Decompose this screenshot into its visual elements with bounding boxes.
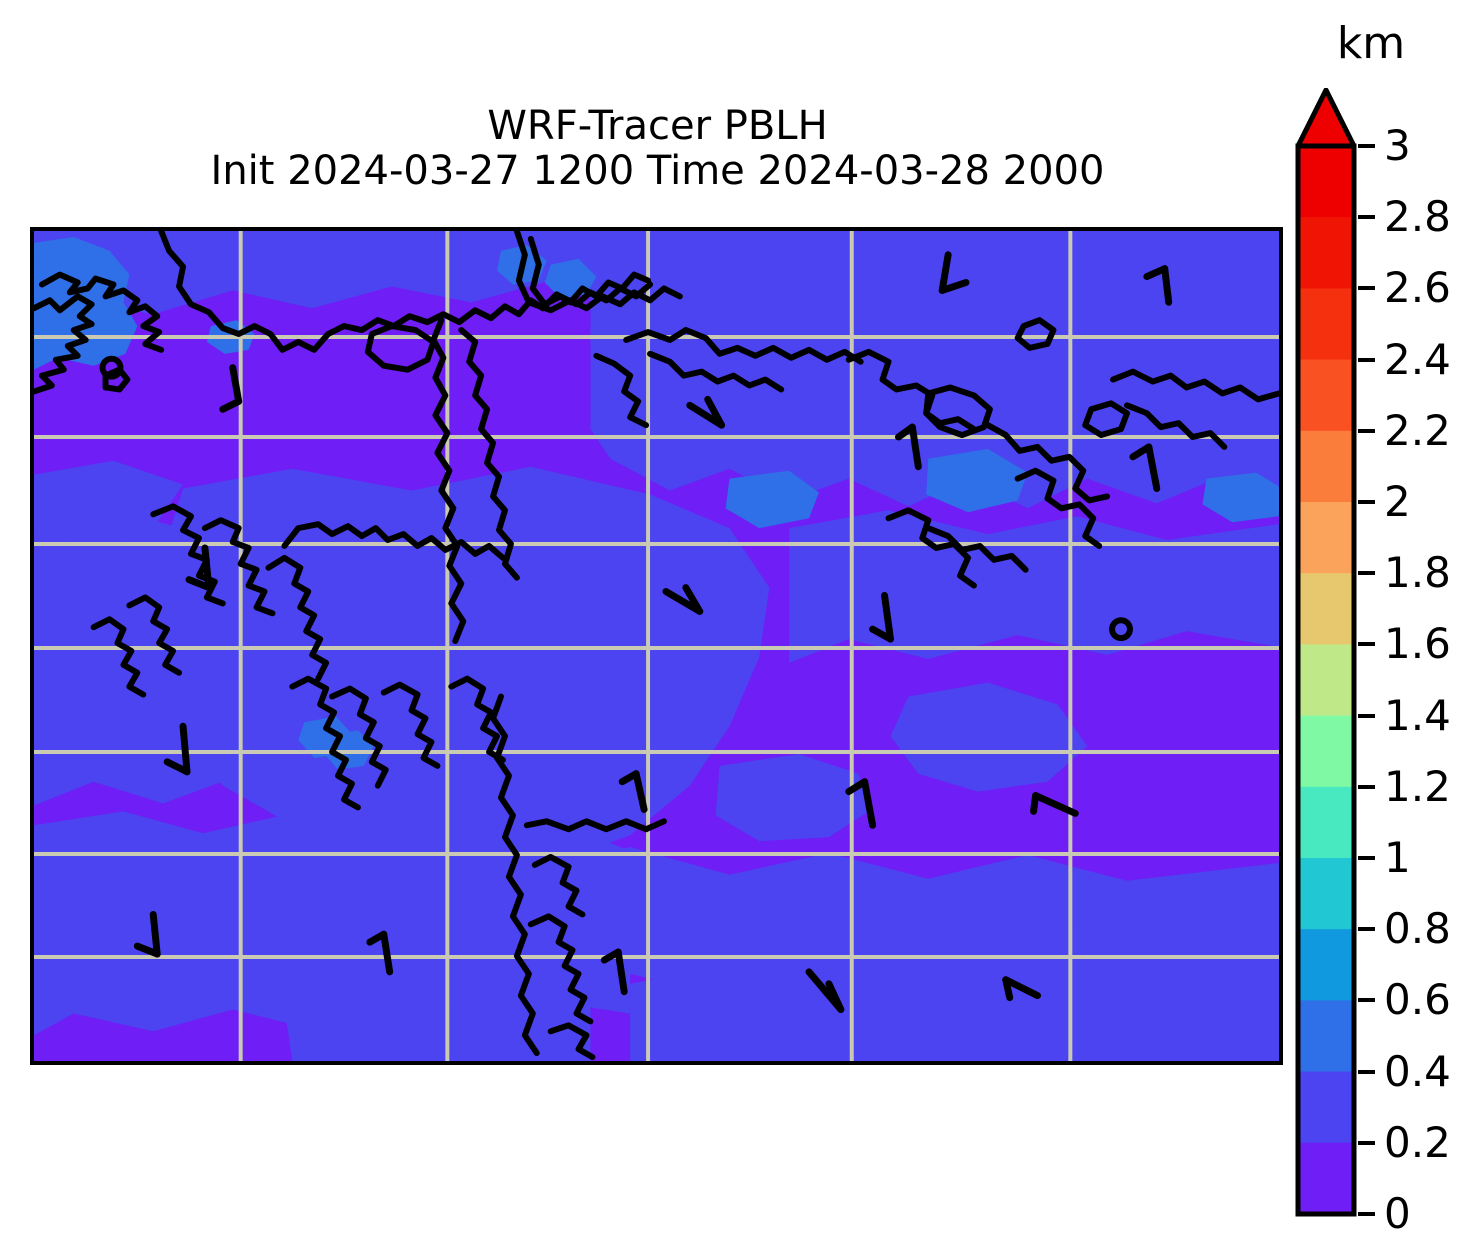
colorbar-band [1298, 146, 1354, 218]
colorbar-tick-mark [1358, 215, 1375, 219]
colorbar-tick-label: 1 [1384, 834, 1411, 882]
colorbar-tick-mark [1358, 714, 1375, 718]
colorbar-band [1298, 288, 1354, 360]
colorbar-tick-mark [1358, 500, 1375, 504]
colorbar-band [1298, 502, 1354, 574]
colorbar-band [1298, 431, 1354, 503]
colorbar-extend-arrow [1298, 90, 1354, 146]
colorbar-tick-label: 2 [1384, 478, 1411, 526]
title-line-times: Init 2024-03-27 1200 Time 2024-03-28 200… [30, 149, 1285, 194]
colorbar-gradient [1295, 88, 1357, 1218]
colorbar-band [1298, 644, 1354, 716]
colorbar[interactable] [1295, 88, 1357, 1218]
colorbar-tick-mark [1358, 571, 1375, 575]
title-line-variable: WRF-Tracer PBLH [30, 104, 1285, 149]
colorbar-tick-label: 0.6 [1384, 976, 1451, 1024]
colorbar-tick-mark [1358, 358, 1375, 362]
figure-title: WRF-Tracer PBLH Init 2024-03-27 1200 Tim… [30, 104, 1285, 194]
colorbar-band [1298, 787, 1354, 859]
colorbar-tick-mark [1358, 1070, 1375, 1074]
colorbar-band [1298, 858, 1354, 930]
colorbar-tick-label: 1.2 [1384, 763, 1451, 811]
map-contour-canvas [34, 231, 1279, 1061]
map-panel[interactable] [30, 227, 1283, 1065]
colorbar-tick-label: 1.8 [1384, 549, 1451, 597]
colorbar-tick-label: 0 [1384, 1190, 1411, 1238]
colorbar-tick-mark [1358, 856, 1375, 860]
colorbar-tick-label: 3 [1384, 122, 1411, 170]
colorbar-tick-mark [1358, 642, 1375, 646]
colorbar-band [1298, 1000, 1354, 1072]
colorbar-tick-label: 1.6 [1384, 620, 1451, 668]
colorbar-band [1298, 1143, 1354, 1215]
colorbar-tick-label: 0.4 [1384, 1048, 1451, 1096]
colorbar-band [1298, 360, 1354, 432]
colorbar-tick-label: 2.4 [1384, 336, 1451, 384]
colorbar-tick-mark [1358, 927, 1375, 931]
colorbar-tick-label: 2.8 [1384, 193, 1451, 241]
colorbar-tick-label: 0.8 [1384, 905, 1451, 953]
colorbar-tick-labels: 32.82.62.42.221.81.61.41.210.80.60.40.20 [1358, 88, 1475, 1218]
colorbar-band [1298, 217, 1354, 289]
colorbar-tick-mark [1358, 429, 1375, 433]
colorbar-tick-label: 2.6 [1384, 264, 1451, 312]
colorbar-band [1298, 929, 1354, 1001]
colorbar-tick-mark [1358, 286, 1375, 290]
colorbar-tick-mark [1358, 998, 1375, 1002]
colorbar-band [1298, 1072, 1354, 1144]
colorbar-band [1298, 573, 1354, 645]
colorbar-unit-label: km [1306, 18, 1436, 69]
colorbar-tick-label: 1.4 [1384, 692, 1451, 740]
colorbar-tick-mark [1358, 144, 1375, 148]
colorbar-tick-mark [1358, 1141, 1375, 1145]
colorbar-tick-mark [1358, 1212, 1375, 1216]
colorbar-tick-label: 2.2 [1384, 407, 1451, 455]
colorbar-tick-mark [1358, 785, 1375, 789]
colorbar-band [1298, 716, 1354, 788]
colorbar-tick-label: 0.2 [1384, 1119, 1451, 1167]
